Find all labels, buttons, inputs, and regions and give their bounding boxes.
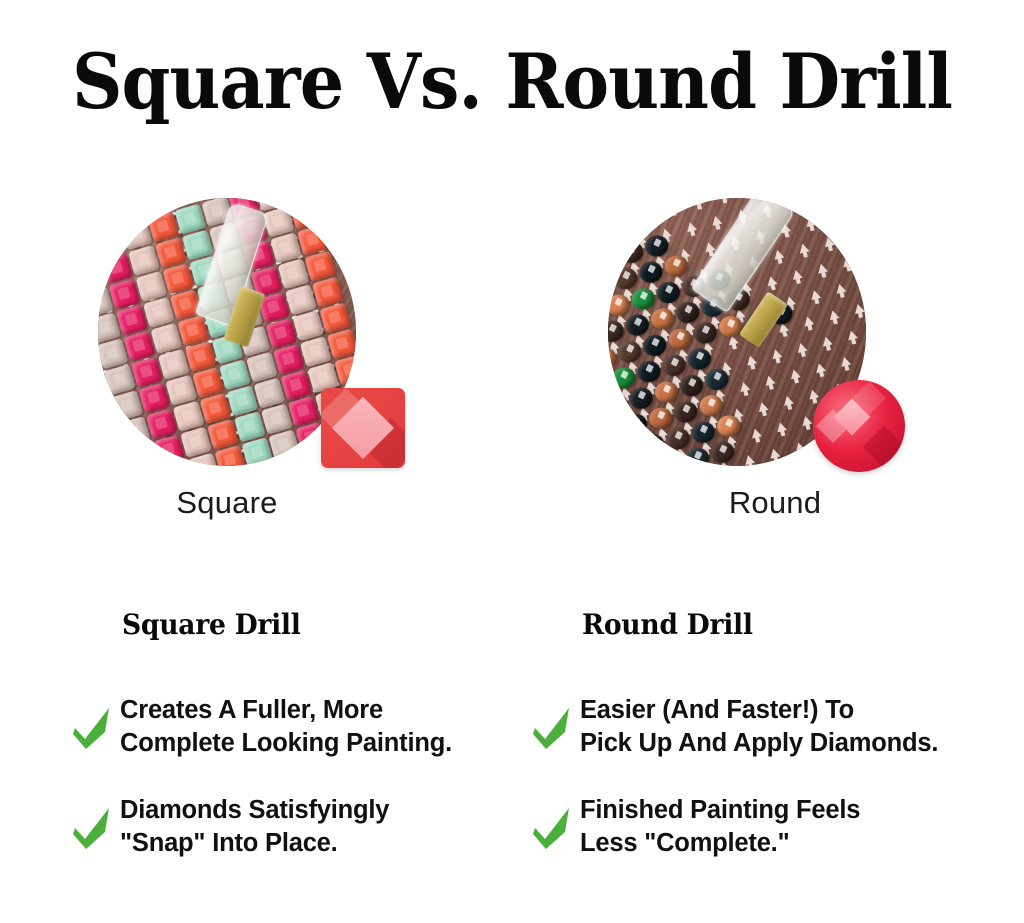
list-item-text: Easier (And Faster!) To Pick Up And Appl… (580, 694, 938, 759)
round-drill (608, 418, 624, 444)
round-drill (692, 320, 719, 346)
round-drill (709, 440, 736, 466)
list-item-text: Finished Painting Feels Less "Complete." (580, 794, 860, 859)
round-drill (678, 373, 705, 399)
round-drill (610, 365, 637, 391)
gem-facet (863, 426, 905, 468)
square-drill (269, 430, 301, 461)
round-drill (653, 379, 680, 405)
round-drill (608, 465, 635, 466)
square-photo-circle (98, 198, 356, 466)
round-drill (663, 253, 690, 279)
round-drill (612, 266, 639, 292)
round-drill (608, 246, 620, 272)
photo-caption-square: Square (47, 485, 407, 521)
round-drill (614, 439, 641, 465)
round-drill (649, 306, 676, 332)
round-drill (665, 426, 692, 452)
check-icon (72, 804, 112, 850)
round-gem (813, 380, 905, 472)
photo-caption-round: Round (595, 485, 955, 521)
round-drill-photo (608, 198, 866, 466)
round-drill (628, 386, 655, 412)
round-drill (655, 280, 682, 306)
round-drill (675, 300, 702, 326)
check-icon (532, 704, 572, 750)
round-drill (661, 353, 688, 379)
list-item: Finished Painting Feels Less "Complete." (532, 794, 860, 859)
round-drill (672, 399, 699, 425)
round-drill (634, 458, 661, 466)
list-item-text: Creates A Fuller, More Complete Looking … (120, 694, 452, 759)
round-drill (608, 392, 630, 418)
round-drill (644, 233, 671, 259)
round-drill (715, 413, 742, 439)
round-drill (647, 406, 674, 432)
round-drill (608, 345, 618, 371)
check-icon (532, 804, 572, 850)
round-drill (616, 339, 643, 365)
round-drill (639, 432, 666, 458)
round-drill (608, 219, 628, 245)
round-drill (608, 319, 626, 345)
round-drill (624, 312, 651, 338)
round-drill (667, 327, 694, 353)
list-item: Creates A Fuller, More Complete Looking … (72, 694, 452, 759)
round-drill (641, 333, 668, 359)
check-icon (72, 704, 112, 750)
round-drill (686, 346, 713, 372)
list-item: Diamonds Satisfyingly "Snap" Into Place. (72, 794, 389, 859)
round-drill (636, 359, 663, 385)
page-title: Square Vs. Round Drill (41, 44, 983, 120)
list-item-text: Diamonds Satisfyingly "Snap" Into Place. (120, 794, 389, 859)
square-gem (321, 388, 405, 468)
list-item: Easier (And Faster!) To Pick Up And Appl… (532, 694, 938, 759)
round-drill (638, 260, 665, 286)
square-drill-photo (98, 198, 356, 466)
round-drill (690, 420, 717, 446)
round-drill (630, 286, 657, 312)
round-drill (608, 445, 616, 466)
column-heading-square-drill: Square Drill (122, 608, 301, 641)
round-drill (608, 293, 632, 319)
column-heading-round-drill: Round Drill (582, 608, 753, 641)
round-drill (659, 452, 686, 466)
round-drill (684, 446, 711, 466)
round-drill (704, 367, 731, 393)
round-drill (618, 240, 645, 266)
round-drill (698, 393, 725, 419)
round-drill (622, 412, 649, 438)
